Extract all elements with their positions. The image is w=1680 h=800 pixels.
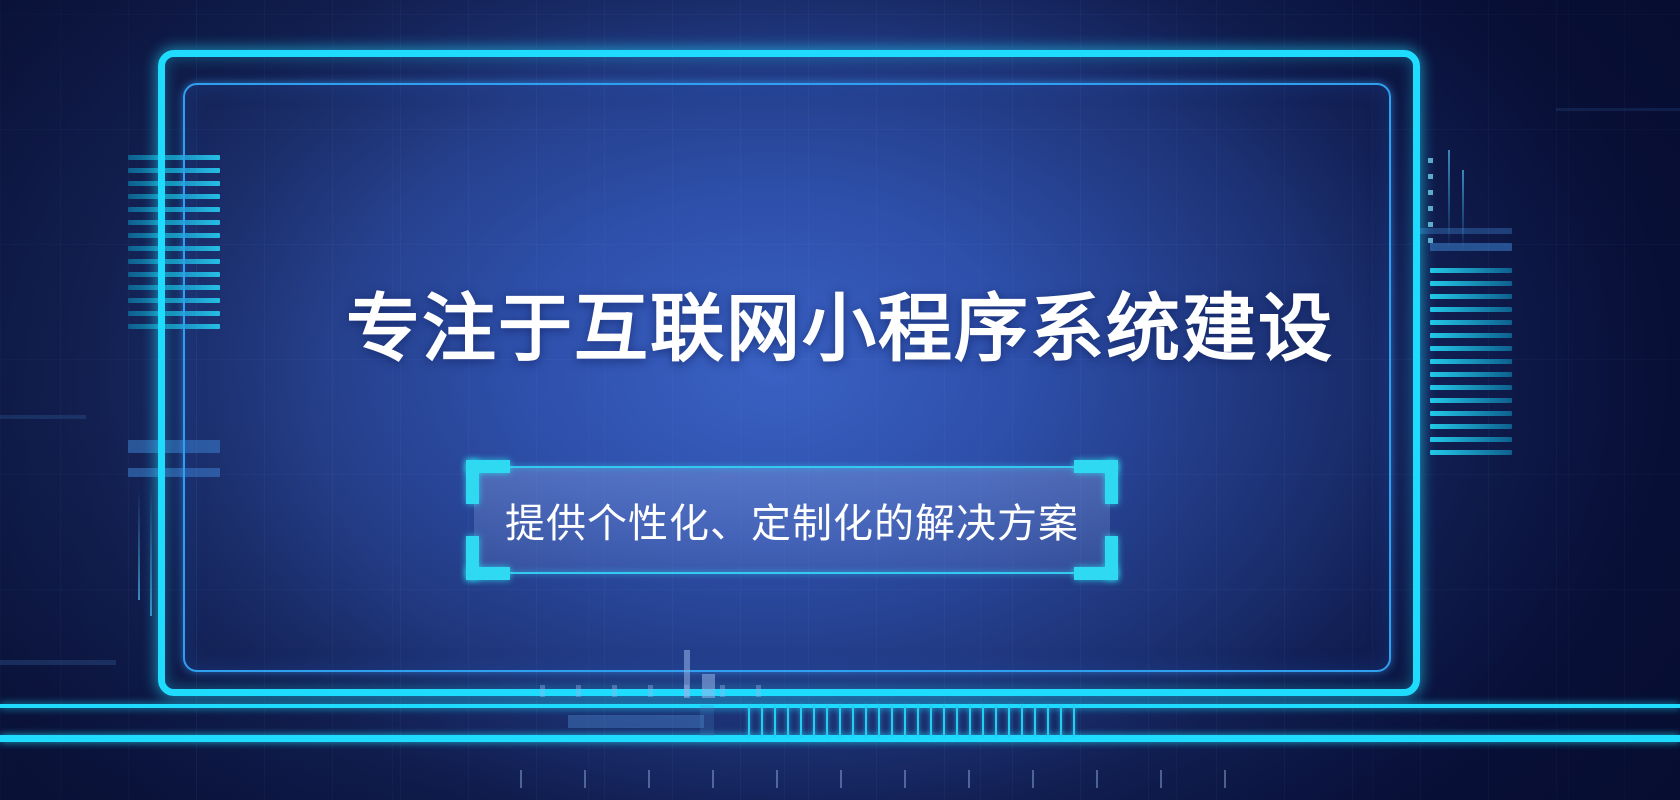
bottom-inline-block [568, 715, 704, 728]
subtitle-text: 提供个性化、定制化的解决方案 [474, 466, 1110, 574]
right-solid-block-1 [1430, 243, 1512, 251]
left-vertical-line-2 [150, 488, 152, 616]
bottom-tick-row [748, 705, 1075, 737]
page-title: 专注于互联网小程序系统建设 [0, 292, 1680, 366]
right-vertical-line-2 [1462, 170, 1464, 252]
left-vertical-line-1 [138, 488, 140, 600]
bottom-faint-tick-row [520, 770, 1226, 788]
banner-root: 专注于互联网小程序系统建设 提供个性化、定制化的解决方案 [0, 0, 1680, 800]
bottom-tall-bar [684, 650, 690, 698]
bottom-dot-row [540, 685, 761, 697]
bottom-short-bar [702, 674, 715, 698]
subtitle-box: 提供个性化、定制化的解决方案 [474, 466, 1110, 574]
left-edge-bar [0, 660, 116, 665]
bottom-inline-block-2 [700, 705, 714, 736]
right-dot-column [1428, 158, 1433, 243]
outer-neon-frame [158, 50, 1420, 696]
right-vertical-line-1 [1448, 150, 1450, 250]
left-edge-bar-2 [0, 415, 86, 419]
right-edge-bar [1556, 108, 1680, 111]
